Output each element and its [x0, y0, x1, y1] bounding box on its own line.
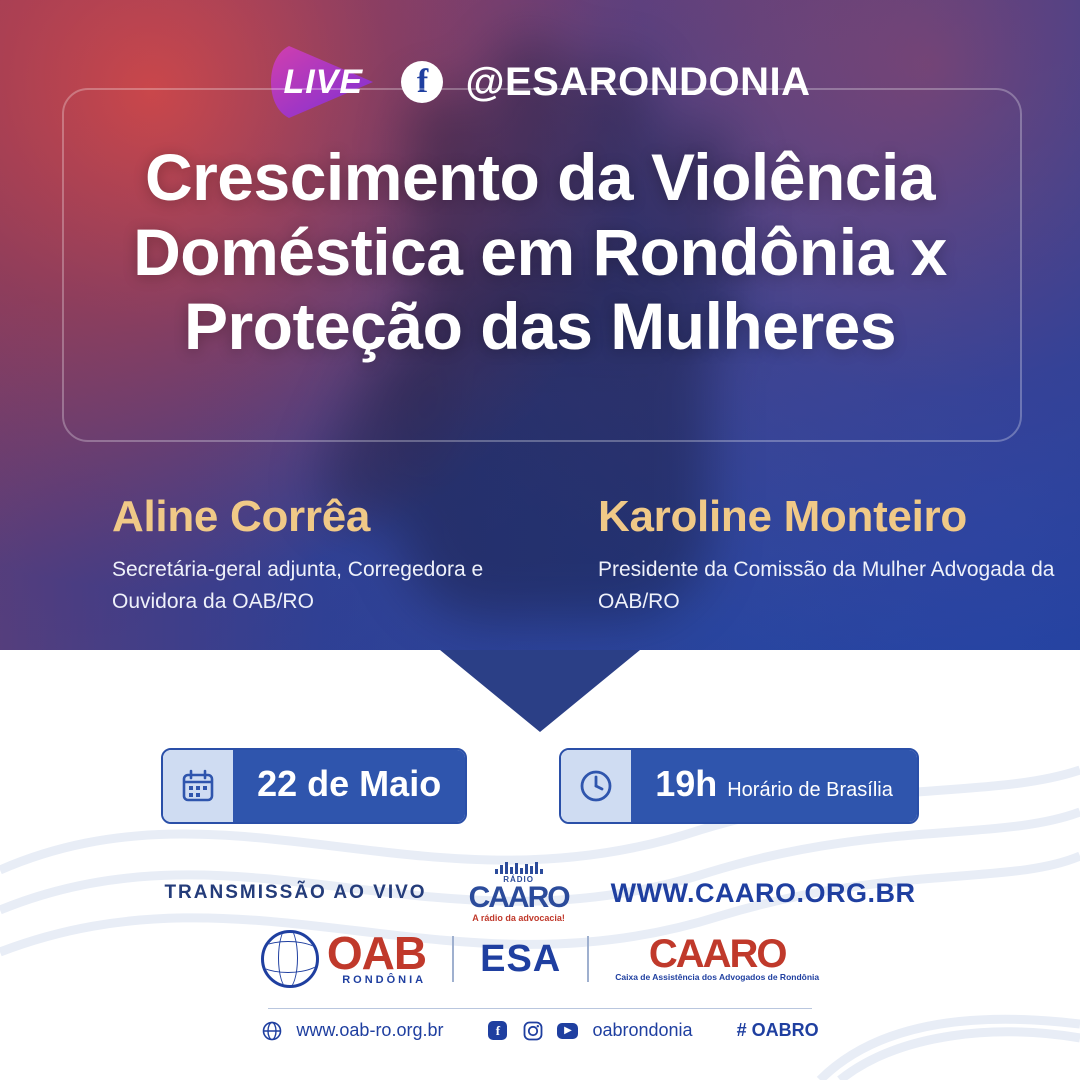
- speaker-2-name: Karoline Monteiro: [598, 492, 1080, 542]
- caaro-wordmark: CAARO: [615, 936, 819, 972]
- radio-caaro-logo: RÁDIO CAARO A rádio da advocacia!: [449, 862, 589, 924]
- oab-wordmark: OAB: [327, 932, 426, 974]
- live-label: LIVE: [269, 42, 393, 122]
- footer-bar: www.oab-ro.org.br f ▶ oabrondonia # OABR…: [0, 1020, 1080, 1041]
- speaker-1: Aline Corrêa Secretária-geral adjunta, C…: [0, 492, 540, 617]
- calendar-icon: [163, 750, 233, 822]
- page-title: Crescimento da Violência Doméstica em Ro…: [62, 140, 1018, 364]
- audio-bars-icon: [449, 862, 589, 874]
- live-announcement-card: LIVE f @ESARONDONIA Crescimento da Violê…: [0, 0, 1080, 1080]
- live-play-icon: LIVE: [269, 42, 379, 122]
- oab-globe-icon: [261, 930, 319, 988]
- caaro-subtitle: Caixa de Assistência dos Advogados de Ro…: [615, 972, 819, 982]
- timezone-label: Horário de Brasília: [727, 779, 893, 802]
- instagram-icon[interactable]: [522, 1020, 543, 1041]
- speakers-section: Aline Corrêa Secretária-geral adjunta, C…: [0, 492, 1080, 617]
- speaker-1-name: Aline Corrêa: [112, 492, 540, 542]
- globe-icon: [261, 1020, 282, 1041]
- speaker-2: Karoline Monteiro Presidente da Comissão…: [540, 492, 1080, 617]
- date-value: 22 de Maio: [257, 750, 441, 818]
- date-chip: 22 de Maio: [161, 748, 467, 824]
- time-value: 19h: [655, 750, 717, 818]
- footer-divider: [268, 1008, 812, 1009]
- clock-icon: [561, 750, 631, 822]
- esa-logo: ESA: [480, 938, 561, 981]
- logos-row: OAB RONDÔNIA ESA CAARO Caixa de Assistên…: [0, 930, 1080, 988]
- speaker-1-role: Secretária-geral adjunta, Corregedora e …: [112, 554, 540, 617]
- youtube-icon[interactable]: ▶: [557, 1020, 578, 1041]
- time-chip: 19h Horário de Brasília: [559, 748, 919, 824]
- bottom-panel: [0, 620, 1080, 1080]
- logo-divider-2: [587, 936, 589, 982]
- footer-social-handle[interactable]: oabrondonia: [592, 1020, 692, 1041]
- footer-website[interactable]: www.oab-ro.org.br: [296, 1020, 443, 1041]
- broadcast-row: TRANSMISSÃO AO VIVO RÁDIO CAARO A rádio …: [0, 862, 1080, 924]
- broadcast-site[interactable]: WWW.CAARO.ORG.BR: [611, 878, 916, 909]
- event-info: 22 de Maio 19h Horário de Brasília: [0, 748, 1080, 824]
- oab-logo: OAB RONDÔNIA: [261, 930, 426, 988]
- logo-divider-1: [452, 936, 454, 982]
- footer-hashtag: # OABRO: [737, 1020, 819, 1041]
- radio-name: CAARO: [449, 884, 589, 912]
- facebook-icon[interactable]: f: [487, 1020, 508, 1041]
- caaro-logo: CAARO Caixa de Assistência dos Advogados…: [615, 936, 819, 982]
- oab-state-label: RONDÔNIA: [327, 974, 426, 986]
- speaker-2-role: Presidente da Comissão da Mulher Advogad…: [598, 554, 1080, 617]
- radio-tagline: A rádio da advocacia!: [449, 913, 589, 923]
- broadcast-label: TRANSMISSÃO AO VIVO: [164, 882, 426, 904]
